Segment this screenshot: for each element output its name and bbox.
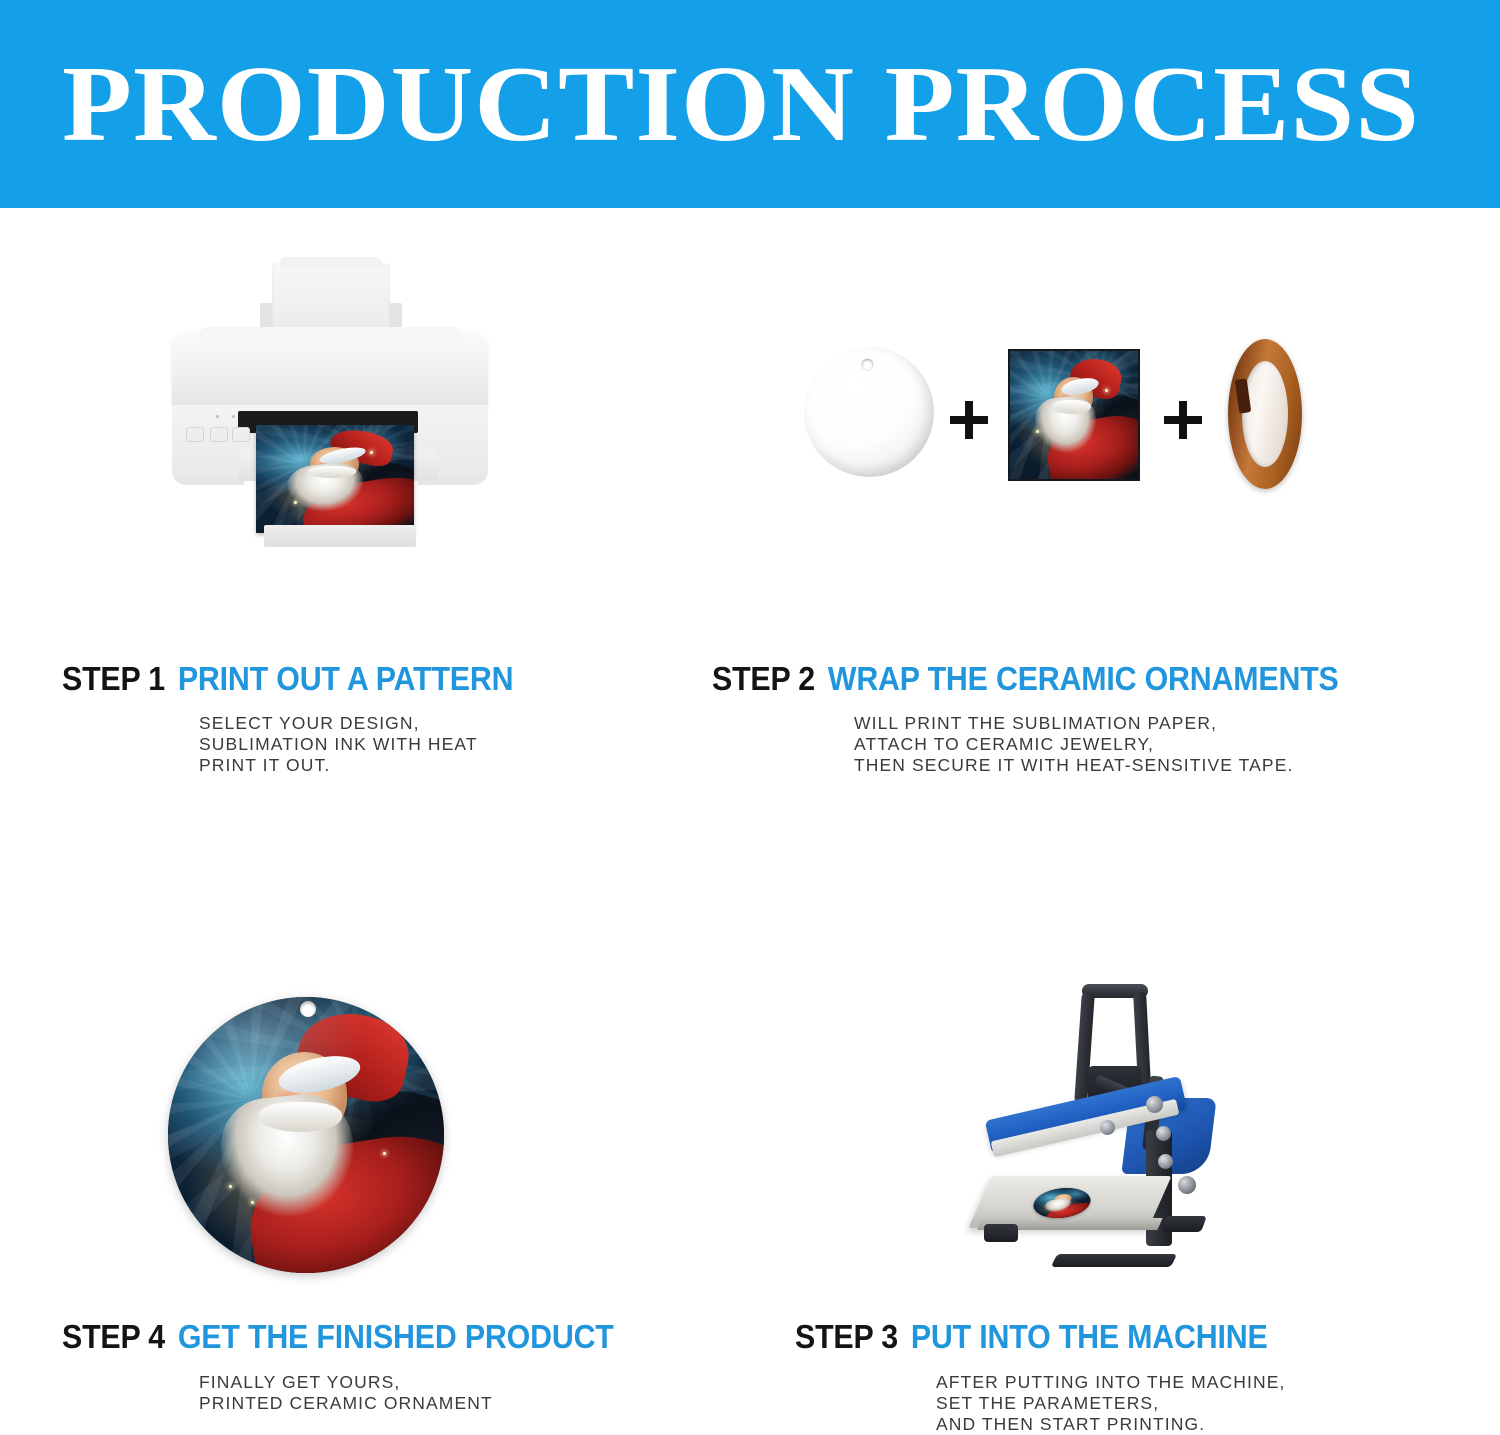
blank-disc-hole xyxy=(862,359,873,370)
press-pivot-3 xyxy=(1156,1126,1171,1141)
santa-artwork xyxy=(256,425,414,533)
step-2-body-line-2: ATTACH TO CERAMIC JEWELRY, xyxy=(854,734,1293,755)
printer-paper-feed xyxy=(272,263,390,335)
step-4-body-line-2: PRINTED CERAMIC ORNAMENT xyxy=(199,1393,493,1414)
components-row xyxy=(790,335,1310,505)
step-2-illustration xyxy=(790,335,1310,505)
printer-top-cover xyxy=(172,331,488,409)
ornament-gloss xyxy=(168,997,444,1273)
plus-icon-2 xyxy=(1164,401,1202,439)
press-base-left xyxy=(984,1224,1018,1242)
sublimation-print-square xyxy=(1008,349,1140,481)
press-pivot-2 xyxy=(1100,1120,1115,1135)
press-pivot-1 xyxy=(1146,1096,1163,1113)
page-title: PRODUCTION PROCESS xyxy=(62,48,1420,161)
printer-lower-tray xyxy=(264,525,416,547)
printer-cancel-button xyxy=(232,427,250,442)
step-2-title: WRAP THE CERAMIC ORNAMENTS xyxy=(828,660,1339,697)
step-1-heading: STEP 1PRINT OUT A PATTERN xyxy=(62,660,513,698)
printer-led-1 xyxy=(216,415,219,418)
santa-sparkle-2 xyxy=(370,451,373,454)
step-3-body-line-2: SET THE PARAMETERS, xyxy=(936,1393,1285,1414)
step-1-body-line-1: SELECT YOUR DESIGN, xyxy=(199,713,478,734)
step-2-body-line-1: WILL PRINT THE SUBLIMATION PAPER, xyxy=(854,713,1293,734)
santa-artwork xyxy=(1029,1188,1095,1218)
tape-inner-core xyxy=(1242,361,1288,467)
step-2-body: WILL PRINT THE SUBLIMATION PAPER, ATTACH… xyxy=(854,713,1293,776)
press-base-front xyxy=(1051,1254,1177,1267)
santa-moustache xyxy=(308,466,355,478)
printer-power-button xyxy=(186,427,204,442)
step-3-illustration xyxy=(950,980,1270,1280)
printed-santa-paper xyxy=(256,425,414,533)
plus-icon-1 xyxy=(950,401,988,439)
step-4-body: FINALLY GET YOURS, PRINTED CERAMIC ORNAM… xyxy=(199,1372,493,1414)
press-base-right xyxy=(1161,1216,1207,1232)
ornament-hanging-hole xyxy=(300,1001,316,1017)
step-3-heading: STEP 3PUT INTO THE MACHINE xyxy=(795,1318,1268,1356)
press-pivot-4 xyxy=(1158,1154,1173,1169)
step-1-body: SELECT YOUR DESIGN, SUBLIMATION INK WITH… xyxy=(199,713,478,776)
step-1-illustration xyxy=(160,255,500,555)
step-4-number: STEP 4 xyxy=(62,1318,165,1355)
press-pressure-knob xyxy=(1178,1176,1196,1194)
step-2-heading: STEP 2WRAP THE CERAMIC ORNAMENTS xyxy=(712,660,1339,698)
santa-sparkle-1 xyxy=(294,501,297,504)
step-2-body-line-3: THEN SECURE IT WITH HEAT-SENSITIVE TAPE. xyxy=(854,755,1293,776)
finished-ornament-graphic xyxy=(160,975,460,1275)
header-banner: PRODUCTION PROCESS xyxy=(0,0,1500,208)
step-1-body-line-3: PRINT IT OUT. xyxy=(199,755,478,776)
ceramic-ornament xyxy=(168,997,444,1273)
step-3-title: PUT INTO THE MACHINE xyxy=(911,1318,1268,1355)
heat-resistant-tape-roll xyxy=(1228,339,1302,489)
printer-feed-button xyxy=(210,427,228,442)
step-4-body-line-1: FINALLY GET YOURS, xyxy=(199,1372,493,1393)
santa-moustache xyxy=(1052,400,1090,414)
step-1-body-line-2: SUBLIMATION INK WITH HEAT xyxy=(199,734,478,755)
santa-artwork xyxy=(1010,351,1138,479)
ornament-on-platen xyxy=(1029,1188,1095,1218)
step-4-title: GET THE FINISHED PRODUCT xyxy=(178,1318,614,1355)
step-3-body: AFTER PUTTING INTO THE MACHINE, SET THE … xyxy=(936,1372,1285,1435)
step-4-heading: STEP 4GET THE FINISHED PRODUCT xyxy=(62,1318,614,1356)
step-3-body-line-3: AND THEN START PRINTING. xyxy=(936,1414,1285,1435)
step-4-illustration xyxy=(160,975,460,1275)
step-3-body-line-1: AFTER PUTTING INTO THE MACHINE, xyxy=(936,1372,1285,1393)
step-1-title: PRINT OUT A PATTERN xyxy=(178,660,514,697)
printer-led-2 xyxy=(232,415,235,418)
step-1-number: STEP 1 xyxy=(62,660,165,697)
step-2-number: STEP 2 xyxy=(712,660,815,697)
heat-press-machine xyxy=(950,980,1270,1280)
step-3-number: STEP 3 xyxy=(795,1318,898,1355)
inkjet-printer-graphic xyxy=(160,255,500,555)
